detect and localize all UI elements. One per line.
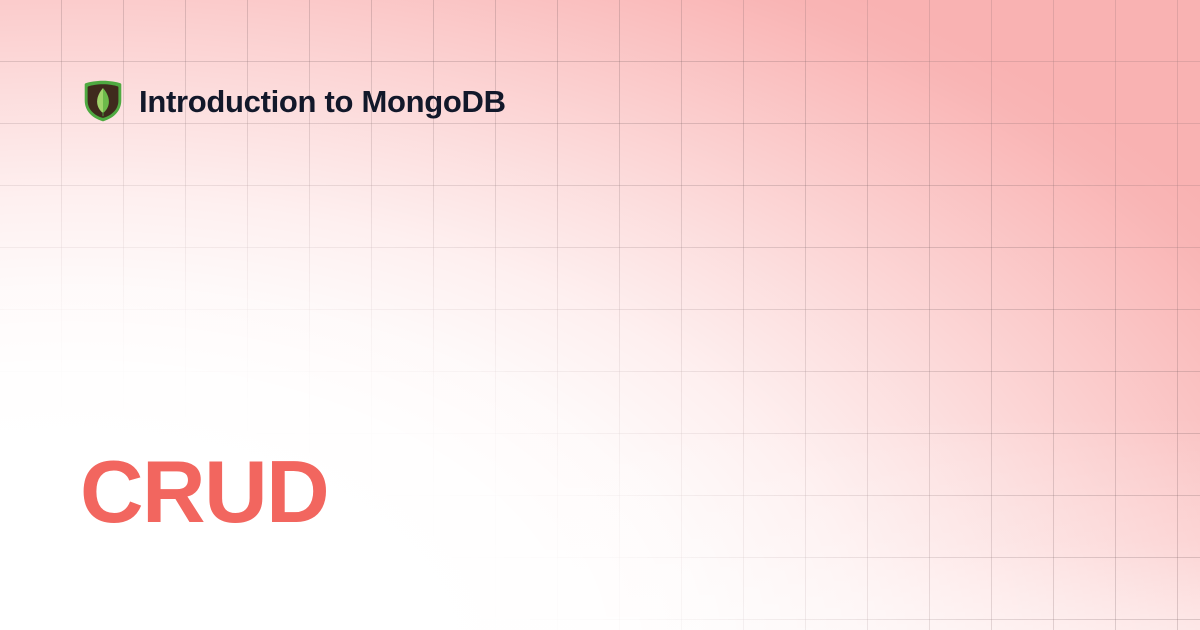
mongodb-leaf-icon bbox=[84, 80, 122, 122]
headline-text: CRUD bbox=[80, 448, 328, 536]
brand-row: Introduction to MongoDB bbox=[84, 80, 506, 122]
brand-title: Introduction to MongoDB bbox=[139, 86, 506, 117]
card-content: Introduction to MongoDB CRUD bbox=[0, 0, 1200, 630]
og-card: Introduction to MongoDB CRUD bbox=[0, 0, 1200, 630]
